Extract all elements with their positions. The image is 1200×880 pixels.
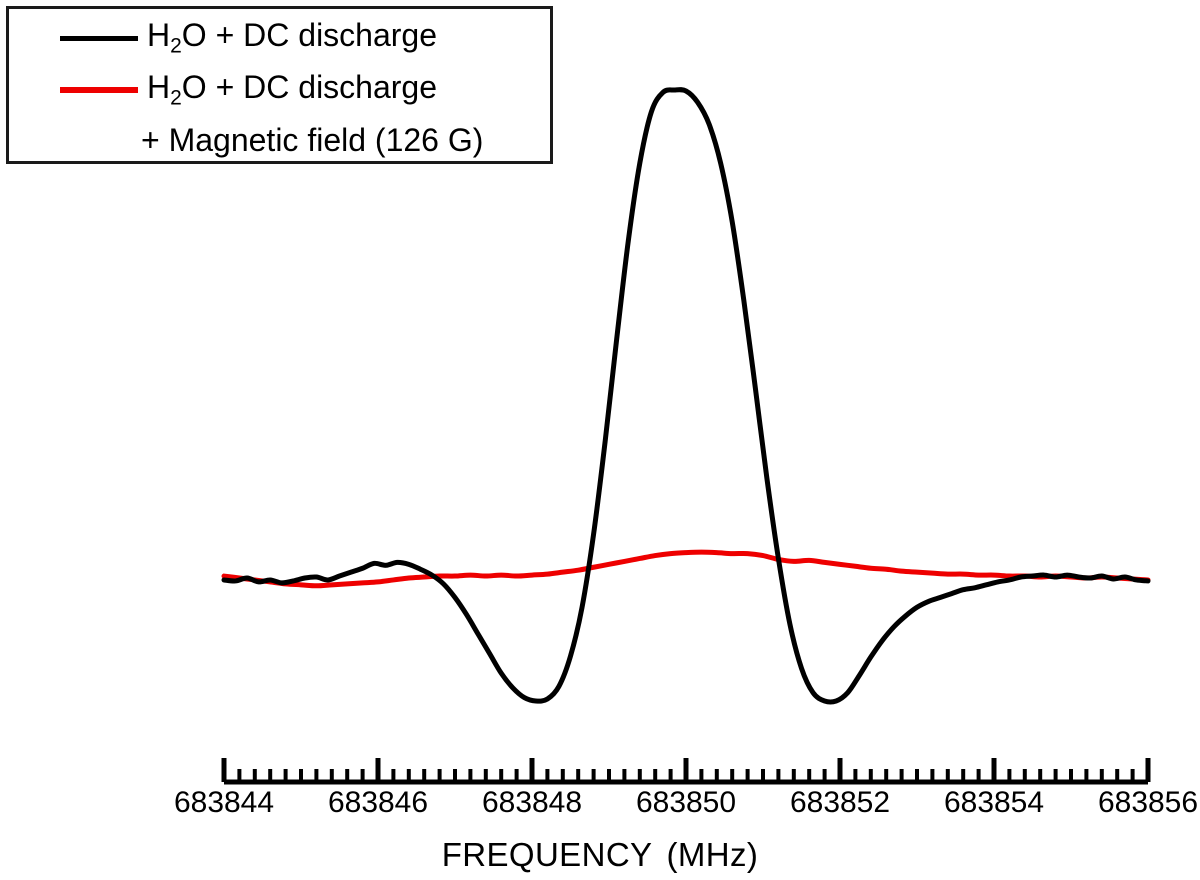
- x-axis-tick-label: 683850: [636, 788, 736, 818]
- legend-entry-continuation: + Magnetic field (126 G): [9, 117, 550, 163]
- x-axis-title: FREQUENCY(MHz): [0, 836, 1200, 874]
- legend-box: H2O + DC discharge H2O + DC discharge + …: [6, 6, 553, 164]
- legend-swatch-black-line: [60, 36, 138, 41]
- legend-entry-dc-discharge: H2O + DC discharge: [9, 15, 550, 61]
- x-axis-tick-label: 683846: [328, 788, 428, 818]
- x-axis-tick-label: 683856: [1098, 788, 1198, 818]
- legend-swatch-red-line: [60, 87, 138, 93]
- x-axis-title-main: FREQUENCY: [442, 836, 653, 873]
- chart-figure: 6838446838466838486838506838526838546838…: [0, 0, 1200, 880]
- legend-entry-magnetic-field: H2O + DC discharge: [9, 67, 550, 113]
- x-axis-tick-label: 683852: [790, 788, 890, 818]
- legend-label-magnetic-field: H2O + DC discharge: [147, 71, 437, 109]
- x-axis-tick-label: 683854: [944, 788, 1044, 818]
- x-axis-ticks: [224, 758, 1148, 782]
- x-axis-title-units: (MHz): [666, 836, 758, 873]
- legend-label-dc-discharge: H2O + DC discharge: [147, 19, 437, 57]
- x-axis-tick-label: 683848: [482, 788, 582, 818]
- series-line-dc-discharge: [224, 90, 1148, 702]
- x-axis-tick-label: 683844: [174, 788, 274, 818]
- legend-label-continuation: + Magnetic field (126 G): [141, 124, 483, 156]
